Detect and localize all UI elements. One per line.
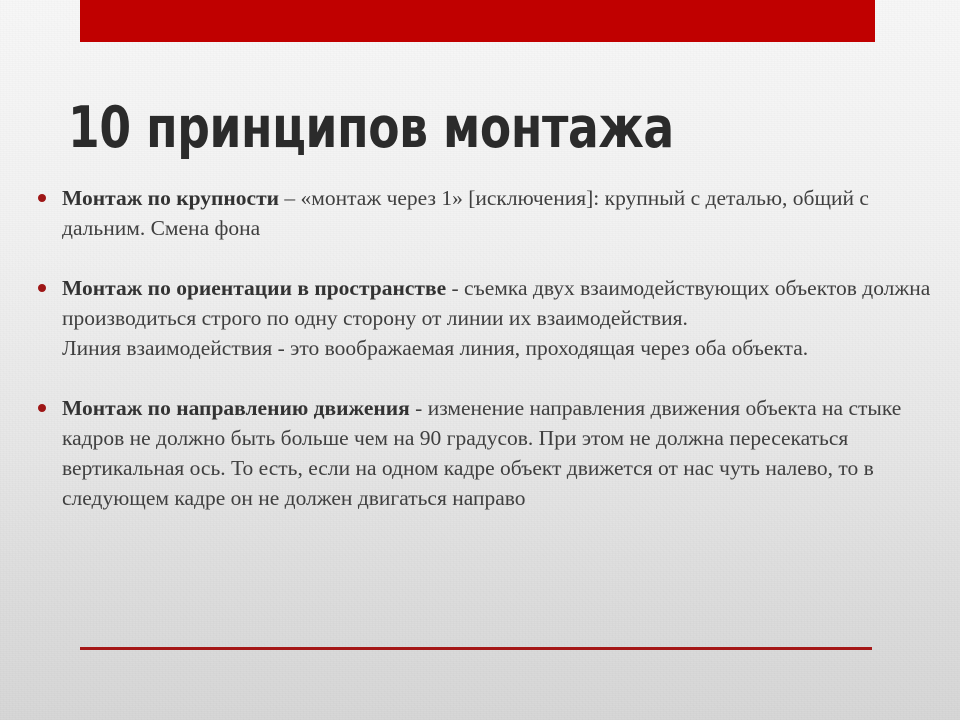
slide-canvas: 10 принципов монтажа Монтаж по крупности… xyxy=(0,0,960,720)
bullet-paragraph: Монтаж по направлению движения - изменен… xyxy=(62,393,932,513)
top-accent-bar xyxy=(80,0,875,42)
bullet-dot-icon xyxy=(38,194,46,202)
bullet-item: Монтаж по направлению движения - изменен… xyxy=(32,393,932,513)
bullet-paragraph: Монтаж по ориентации в пространстве - съ… xyxy=(62,273,932,333)
bullet-dot-icon xyxy=(38,284,46,292)
bullet-extra-paragraph: Линия взаимодействия - это воображаемая … xyxy=(62,333,932,363)
bullet-lead: Монтаж по направлению движения xyxy=(62,396,410,420)
bullet-item: Монтаж по ориентации в пространстве - съ… xyxy=(32,273,932,363)
bullet-lead: Монтаж по ориентации в пространстве xyxy=(62,276,446,300)
bottom-accent-rule xyxy=(80,647,872,650)
bullet-lead: Монтаж по крупности xyxy=(62,186,279,210)
bullet-dot-icon xyxy=(38,404,46,412)
slide-title: 10 принципов монтажа xyxy=(68,97,674,159)
bullet-paragraph: Монтаж по крупности – «монтаж через 1» [… xyxy=(62,183,932,243)
bullet-list: Монтаж по крупности – «монтаж через 1» [… xyxy=(32,183,932,513)
bullet-item: Монтаж по крупности – «монтаж через 1» [… xyxy=(32,183,932,243)
